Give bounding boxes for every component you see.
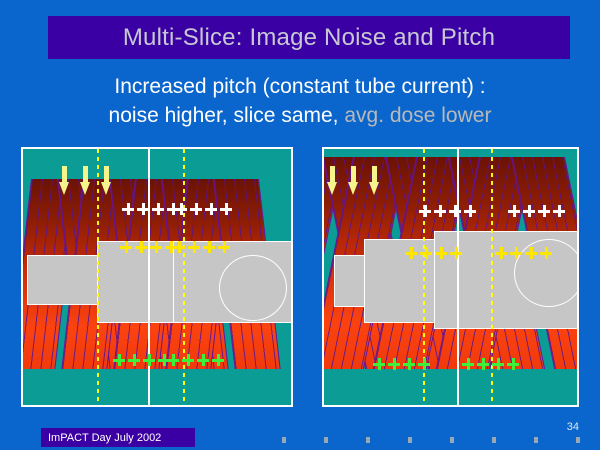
dose-plus-marker (538, 205, 550, 217)
footer-tick-mark (450, 437, 454, 443)
dose-plus-marker (525, 247, 537, 259)
dose-plus-marker (128, 354, 140, 366)
dose-plus-marker (167, 354, 179, 366)
dose-plus-marker (508, 205, 520, 217)
dose-marker-row-yellow (405, 247, 465, 259)
dose-plus-marker (373, 358, 385, 370)
dose-marker-row-yellow (495, 247, 555, 259)
dose-marker-row-yellow (173, 241, 233, 253)
beam-direction-arrow-icon (101, 166, 112, 196)
dose-plus-marker (205, 203, 217, 215)
dose-plus-marker (190, 203, 202, 215)
dose-plus-marker (150, 241, 162, 253)
footer-label: ImPACT Day July 2002 (41, 432, 161, 444)
dose-plus-marker (135, 241, 147, 253)
subtitle-muted-text: avg. dose lower (339, 104, 492, 127)
beam-direction-arrow-icon (369, 166, 380, 196)
dose-plus-marker (510, 247, 522, 259)
beam-direction-arrow-icon (80, 166, 91, 196)
arrow-head (369, 182, 379, 195)
page-number: 34 (567, 421, 579, 433)
dose-plus-marker (173, 241, 185, 253)
footer-tick-mark (576, 437, 580, 443)
dose-plus-marker (120, 241, 132, 253)
dose-plus-marker (462, 358, 474, 370)
dose-marker-row-green (462, 358, 522, 370)
dose-plus-marker (477, 358, 489, 370)
beam-direction-arrow-icon (348, 166, 359, 196)
dose-plus-marker (218, 241, 230, 253)
dose-marker-row-yellow (120, 241, 180, 253)
footer-tick-mark (282, 437, 286, 443)
solid-center-reference-line (457, 149, 459, 405)
dose-plus-marker (388, 358, 400, 370)
dose-plus-marker (495, 247, 507, 259)
dose-marker-row-white (122, 203, 182, 215)
dose-marker-row-green (373, 358, 433, 370)
dose-plus-marker (420, 247, 432, 259)
footer-tick-mark (534, 437, 538, 443)
arrow-head (80, 182, 90, 195)
dose-plus-marker (152, 203, 164, 215)
dose-plus-marker (403, 358, 415, 370)
dose-plus-marker (418, 358, 430, 370)
dose-plus-marker (137, 203, 149, 215)
slide-title-banner: Multi-Slice: Image Noise and Pitch (48, 16, 570, 59)
dose-plus-marker (540, 247, 552, 259)
dose-plus-marker (182, 354, 194, 366)
dose-marker-row-green (113, 354, 173, 366)
arrow-head (327, 182, 337, 195)
dotted-reference-line (183, 149, 185, 405)
dose-plus-marker (464, 205, 476, 217)
footer-label-box: ImPACT Day July 2002 (41, 428, 195, 447)
subtitle-line-1: Increased pitch (constant tube current) … (0, 72, 600, 101)
dose-plus-marker (122, 203, 134, 215)
dose-plus-marker (449, 205, 461, 217)
dose-plus-marker (523, 205, 535, 217)
footer-tick-mark (492, 437, 496, 443)
dose-plus-marker (553, 205, 565, 217)
arrow-head (348, 182, 358, 195)
arrow-head (101, 182, 111, 195)
dose-plus-marker (434, 205, 446, 217)
diagram-stage-left (23, 149, 291, 405)
dose-marker-row-white (175, 203, 235, 215)
beam-direction-arrow-icon (59, 166, 70, 196)
dose-plus-marker (197, 354, 209, 366)
dose-marker-row-green (167, 354, 227, 366)
dotted-reference-line (97, 149, 99, 405)
solid-center-reference-line (148, 149, 150, 405)
patient-head (219, 255, 287, 321)
dose-plus-marker (220, 203, 232, 215)
subtitle-emphasis-text: noise higher, slice same, (109, 104, 339, 127)
page-title: Multi-Slice: Image Noise and Pitch (123, 24, 495, 52)
slide-subtitle: Increased pitch (constant tube current) … (0, 72, 600, 130)
dose-plus-marker (435, 247, 447, 259)
dose-plus-marker (212, 354, 224, 366)
arrow-head (59, 182, 69, 195)
dose-plus-marker (507, 358, 519, 370)
dose-plus-marker (492, 358, 504, 370)
beam-direction-arrow-icon (327, 166, 338, 196)
dose-plus-marker (113, 354, 125, 366)
patient-body-segment (27, 255, 105, 305)
footer-tick-mark (366, 437, 370, 443)
diagram-panel-normal-pitch (21, 147, 293, 407)
footer-tick-mark (408, 437, 412, 443)
dose-plus-marker (419, 205, 431, 217)
subtitle-line-1-text: Increased pitch (constant tube current) … (114, 75, 485, 98)
dose-plus-marker (450, 247, 462, 259)
dose-plus-marker (175, 203, 187, 215)
dose-plus-marker (405, 247, 417, 259)
diagram-panel-increased-pitch (322, 147, 579, 407)
footer-tick-strip (282, 437, 582, 444)
diagram-stage-right (324, 149, 577, 405)
subtitle-line-2: noise higher, slice same, avg. dose lowe… (0, 101, 600, 130)
dose-plus-marker (188, 241, 200, 253)
dose-plus-marker (203, 241, 215, 253)
dose-plus-marker (143, 354, 155, 366)
footer-tick-mark (324, 437, 328, 443)
dose-marker-row-white (508, 205, 568, 217)
dose-marker-row-white (419, 205, 479, 217)
